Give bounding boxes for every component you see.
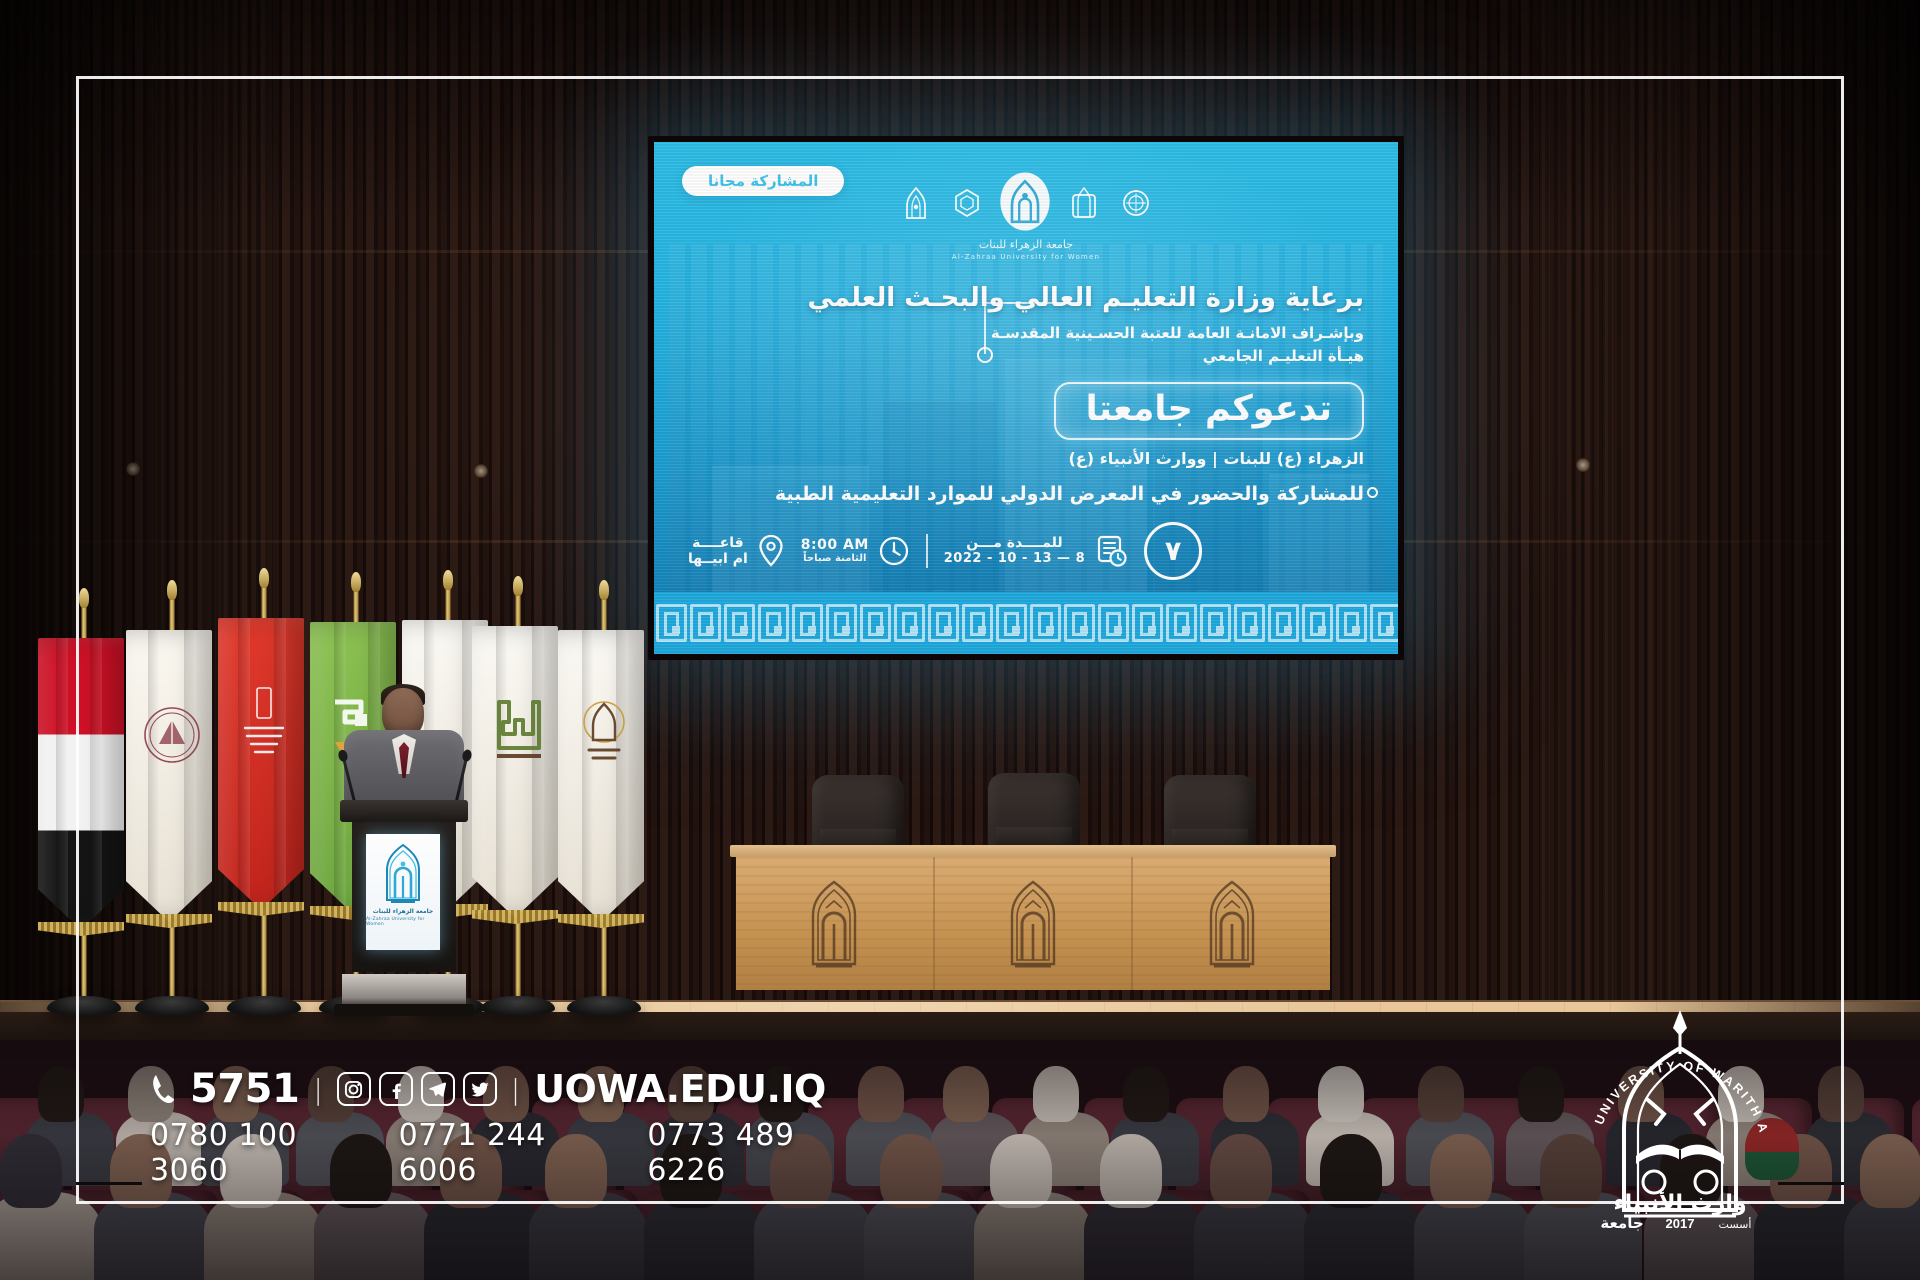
- kufic-tile: [962, 604, 993, 642]
- event-details-strip: ٧ للمــــدة مـــن 8 — 13 - 10 - 2022: [688, 522, 1372, 580]
- photo-canvas: المشاركة مجانا: [0, 0, 1920, 1280]
- separator: |: [511, 1073, 520, 1106]
- kufic-tile: [792, 604, 823, 642]
- time-label: الثامنة صباحاً: [801, 553, 869, 565]
- al-zahraa-arch-logo-icon: [1200, 878, 1264, 970]
- time-cell: 8:00 AM الثامنة صباحاً: [801, 535, 910, 567]
- audience-member-head: [1418, 1066, 1464, 1122]
- kufic-tile: [894, 604, 925, 642]
- kufic-tile: [1030, 604, 1061, 642]
- iraq-flag: [36, 604, 132, 1012]
- speaker-podium: جامعة الزهراء للبنات Al-Zahraa Universit…: [352, 800, 456, 1008]
- al-zahraa-arch-logo-icon: [1001, 878, 1065, 970]
- frame-notch: [76, 1182, 142, 1185]
- edition-number-badge: ٧: [1144, 522, 1202, 580]
- university-logo: UNIVERSITY OF WARITH AL-ANBIYAA وارث الأ…: [1580, 1004, 1780, 1234]
- kufic-tile: [1336, 604, 1367, 642]
- kufic-tile: [758, 604, 789, 642]
- kufic-tile: [1098, 604, 1129, 642]
- screen-university-name-arabic: جامعة الزهراء للبنات: [654, 238, 1398, 251]
- contact-footer: 5751 |: [150, 1066, 870, 1188]
- logo-established-label: أسست: [1719, 1217, 1752, 1231]
- kufic-tile: [724, 604, 755, 642]
- venue-cell: قاعــــة ام ابيــها: [688, 534, 785, 568]
- kufic-tile: [1132, 604, 1163, 642]
- screen-university-wordmark: جامعة الزهراء للبنات Al-Zahraa Universit…: [654, 238, 1398, 261]
- shrine-dome-icon: [903, 186, 929, 220]
- frame-notch: [1778, 1182, 1844, 1185]
- flag-base: [135, 996, 209, 1016]
- flag-finial: [259, 568, 269, 588]
- flag-fringe: [558, 914, 644, 928]
- kufic-tile: [860, 604, 891, 642]
- warith-al-anbiyaa-logo-icon: [573, 692, 635, 778]
- venue-label: قاعــــة: [688, 535, 748, 551]
- instagram-icon[interactable]: [337, 1072, 371, 1106]
- kufic-tile: [1370, 604, 1399, 642]
- twitter-icon[interactable]: [463, 1072, 497, 1106]
- table-front-face: [736, 857, 1330, 990]
- sponsor-crest-row: [654, 180, 1398, 226]
- audience-member-head: [1818, 1066, 1864, 1122]
- led-presentation-screen: المشاركة مجانا: [654, 142, 1398, 654]
- website-url[interactable]: UOWA.EDU.IQ: [534, 1067, 826, 1111]
- contact-phone-list: 0780 100 3060 0771 244 6006 0773 489 622…: [150, 1118, 870, 1188]
- clock-icon: [878, 535, 910, 567]
- audience-member-head: [1320, 1134, 1382, 1208]
- hexagon-emblem-icon: [955, 189, 979, 217]
- al-zahraa-university-flag: [470, 592, 566, 1012]
- separator: |: [313, 1073, 322, 1106]
- kufic-tile: [1268, 604, 1299, 642]
- audience-member-head: [990, 1134, 1052, 1208]
- flag-cloth: [38, 638, 124, 930]
- facebook-icon[interactable]: [379, 1072, 413, 1106]
- short-phone-number[interactable]: 5751: [190, 1066, 299, 1112]
- ministry-of-higher-education-flag: [124, 596, 220, 1012]
- flag-finial: [79, 588, 89, 608]
- al-zahraa-arch-logo-icon: [378, 842, 428, 904]
- warith-al-anbiyaa-university-flag: [556, 596, 652, 1012]
- audience-member-head: [1518, 1066, 1564, 1122]
- bullet-dot-icon: [1367, 487, 1378, 498]
- audience-member-head: [943, 1066, 989, 1122]
- audience-member-head: [880, 1134, 942, 1208]
- audience-member-head: [1210, 1134, 1272, 1208]
- audience-member-head: [1100, 1134, 1162, 1208]
- al-zahraa-university-seal-icon: [996, 170, 1054, 237]
- flag-finial: [513, 576, 523, 596]
- ministry-seal-icon: [141, 692, 203, 778]
- red-flag-calligraphy-icon: [233, 680, 295, 766]
- podium-screen-latin: Al-Zahraa University for Women: [366, 917, 440, 927]
- podium-branding-panel: جامعة الزهراء للبنات Al-Zahraa Universit…: [366, 834, 440, 950]
- kufic-tile: [656, 604, 687, 642]
- holy-shrine-emblem-icon: [1071, 187, 1097, 219]
- phone-number[interactable]: 0771 244 6006: [399, 1118, 622, 1188]
- podium-base: [342, 974, 466, 1008]
- flag-fringe: [38, 922, 124, 936]
- flag-base: [227, 996, 301, 1016]
- flag-finial: [599, 580, 609, 600]
- flag-fringe: [126, 914, 212, 928]
- table-segment: [736, 857, 935, 990]
- kufic-tile: [1200, 604, 1231, 642]
- time-value: 8:00 AM: [801, 537, 869, 553]
- kufic-tile: [690, 604, 721, 642]
- flag-finial: [443, 570, 453, 590]
- audience-member-head: [1123, 1066, 1169, 1122]
- panel-table: [736, 845, 1330, 990]
- kufic-tile: [1302, 604, 1333, 642]
- telegram-icon[interactable]: [421, 1072, 455, 1106]
- podium-top: [340, 800, 468, 822]
- kufic-tile: [1234, 604, 1265, 642]
- audience-member-head: [1860, 1134, 1920, 1208]
- supervisor-line-1: وبإشـراف الامانـة العامة للعتبة الحسـيني…: [694, 323, 1364, 343]
- warith-al-anbiyaa-logo-icon: UNIVERSITY OF WARITH AL-ANBIYAA وارث الأ…: [1580, 1004, 1780, 1234]
- kufic-tile: [996, 604, 1027, 642]
- audience-member-head: [0, 1134, 62, 1208]
- flag-fringe: [218, 902, 304, 916]
- event-main-line: للمشاركة والحضور في المعرض الدولي للموار…: [694, 482, 1364, 507]
- flag-base: [47, 996, 121, 1016]
- audience-member-head: [1318, 1066, 1364, 1122]
- kufic-tile: [928, 604, 959, 642]
- phone-number[interactable]: 0780 100 3060: [150, 1118, 373, 1188]
- divider: [926, 534, 928, 568]
- audience-member-head: [38, 1066, 84, 1122]
- flag-base: [481, 996, 555, 1016]
- screen-university-name-latin: Al-Zahraa University for Women: [654, 253, 1398, 261]
- screen-text-block: برعاية وزارة التعليـم العالي والبحـث الع…: [694, 282, 1364, 507]
- social-links[interactable]: [337, 1072, 497, 1106]
- duration-cell: للمــــدة مـــن 8 — 13 - 10 - 2022: [944, 534, 1128, 568]
- logo-established-year: 2017: [1666, 1216, 1695, 1231]
- kufic-tile: [1166, 604, 1197, 642]
- podium-screen-arabic: جامعة الزهراء للبنات: [373, 908, 433, 915]
- phone-handset-icon: [150, 1072, 176, 1106]
- invitation-pill: تدعوكم جامعتا: [1054, 382, 1364, 440]
- contact-primary-row: 5751 |: [150, 1066, 870, 1112]
- duration-value: 8 — 13 - 10 - 2022: [944, 552, 1085, 567]
- kufic-pattern-band: [654, 592, 1398, 654]
- location-pin-icon: [757, 534, 785, 568]
- flag-base: [567, 996, 641, 1016]
- colleges-line: الزهراء (ع) للبنات | ووارث الأنبياء (ع): [694, 449, 1364, 468]
- audience-member-head: [1223, 1066, 1269, 1122]
- audience-member-head: [1033, 1066, 1079, 1122]
- flag-finial: [351, 572, 361, 592]
- flag-fringe: [472, 910, 558, 924]
- phone-number[interactable]: 0773 489 6226: [647, 1118, 870, 1188]
- table-segment: [935, 857, 1134, 990]
- kufic-tile: [1064, 604, 1095, 642]
- al-zahraa-arch-logo-icon: [802, 878, 866, 970]
- venue-name: ام ابيــها: [688, 551, 748, 567]
- al-zahraa-kufi-logo-icon: [487, 688, 549, 774]
- table-segment: [1133, 857, 1330, 990]
- audience-member-head: [1430, 1134, 1492, 1208]
- podium-foot: [334, 1004, 474, 1016]
- patron-line: برعاية وزارة التعليـم العالي والبحـث الع…: [694, 282, 1364, 315]
- calendar-clock-icon: [1094, 534, 1128, 568]
- duration-label: للمــــدة مـــن: [944, 535, 1085, 551]
- logo-arabic-name: وارث الأنبياء: [1613, 1188, 1746, 1216]
- kufic-tile: [826, 604, 857, 642]
- supervisor-line-2: هيـأة التعليـم الجامعي: [694, 346, 1364, 366]
- table-top-edge: [730, 845, 1336, 857]
- circular-emblem-icon: [1123, 188, 1149, 218]
- flag-finial: [167, 580, 177, 600]
- red-institution-flag: [216, 584, 312, 1012]
